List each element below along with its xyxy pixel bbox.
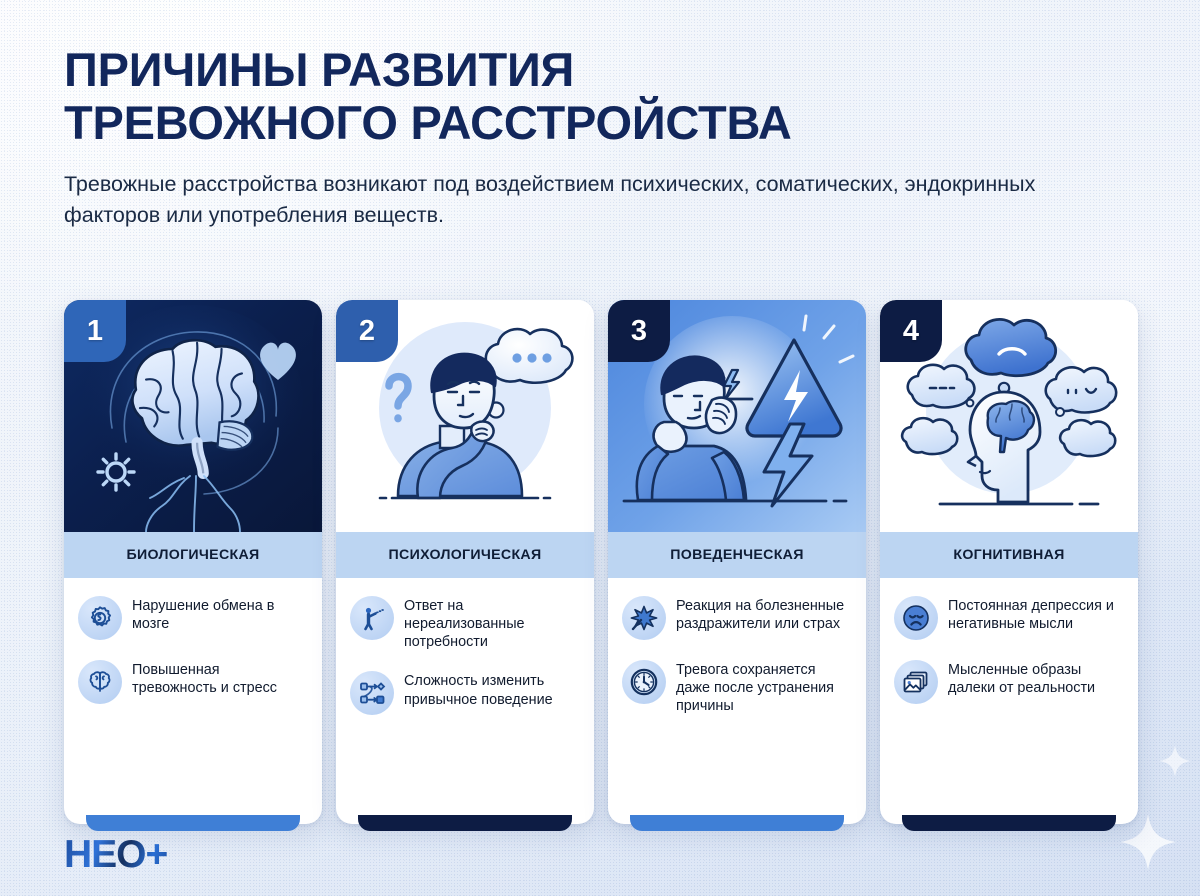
list-item: Тревога сохраняется даже после устранени… <box>622 660 852 715</box>
list-item: Мысленные образы далеки от реальности <box>894 660 1124 704</box>
card-number-badge: 1 <box>64 300 126 362</box>
card-number: 3 <box>631 317 647 346</box>
page-title: ПРИЧИНЫ РАЗВИТИЯ ТРЕВОЖНОГО РАССТРОЙСТВА <box>64 44 1074 149</box>
list-item-text: Реакция на болезненные раздражители или … <box>676 596 852 633</box>
list-item-text: Повышенная тревожность и стресс <box>132 660 308 697</box>
card-items-list: Нарушение обмена в мозге Повышенная трев… <box>64 578 322 824</box>
list-item-text: Ответ на нереализованные потребности <box>404 596 580 651</box>
gear-brain-icon <box>78 596 122 640</box>
cards-row: 1 БИОЛОГИЧЕСКАЯ Нарушение обмена в мозге <box>64 300 1139 824</box>
card-number-badge: 4 <box>880 300 942 362</box>
card-number: 1 <box>87 317 103 346</box>
card-label: КОГНИТИВНАЯ <box>880 532 1138 578</box>
list-item: Реакция на болезненные раздражители или … <box>622 596 852 640</box>
card-items-list: Реакция на болезненные раздражители или … <box>608 578 866 824</box>
list-item: Нарушение обмена в мозге <box>78 596 308 640</box>
card-behavioural[interactable]: 3 ПОВЕДЕНЧЕСКАЯ Реакция на болезненные р… <box>608 300 866 824</box>
list-item: Сложность изменить привычное поведение <box>350 671 580 715</box>
list-item: Повышенная тревожность и стресс <box>78 660 308 704</box>
card-cognitive[interactable]: 4 КОГНИТИВНАЯ Постоянная депрессия и нег <box>880 300 1138 824</box>
list-item-text: Сложность изменить привычное поведение <box>404 671 580 708</box>
card-biological[interactable]: 1 БИОЛОГИЧЕСКАЯ Нарушение обмена в мозге <box>64 300 322 824</box>
card-number: 2 <box>359 317 375 346</box>
card-items-list: Постоянная депрессия и негативные мысли … <box>880 578 1138 824</box>
card-number-badge: 2 <box>336 300 398 362</box>
card-bottom-tab <box>86 815 300 831</box>
sad-face-icon <box>894 596 938 640</box>
card-number: 4 <box>903 317 919 346</box>
card-image-psychological: 2 <box>336 300 594 532</box>
card-number-badge: 3 <box>608 300 670 362</box>
burst-icon <box>622 596 666 640</box>
list-item-text: Нарушение обмена в мозге <box>132 596 308 633</box>
person-reaching-icon <box>350 596 394 640</box>
list-item-text: Тревога сохраняется даже после устранени… <box>676 660 852 715</box>
header: ПРИЧИНЫ РАЗВИТИЯ ТРЕВОЖНОГО РАССТРОЙСТВА… <box>64 44 1074 230</box>
card-psychological[interactable]: 2 ПСИХОЛОГИЧЕСКАЯ Ответ на нереализованн… <box>336 300 594 824</box>
list-item: Ответ на нереализованные потребности <box>350 596 580 651</box>
flowchart-icon <box>350 671 394 715</box>
card-label: ПОВЕДЕНЧЕСКАЯ <box>608 532 866 578</box>
clock-icon <box>622 660 666 704</box>
card-bottom-tab <box>358 815 572 831</box>
list-item-text: Мысленные образы далеки от реальности <box>948 660 1124 697</box>
page-subtitle: Тревожные расстройства возникают под воз… <box>64 169 1044 230</box>
card-image-behavioural: 3 <box>608 300 866 532</box>
list-item: Постоянная депрессия и негативные мысли <box>894 596 1124 640</box>
brain-icon <box>78 660 122 704</box>
page-title-line-1: ПРИЧИНЫ РАЗВИТИЯ <box>64 44 1074 97</box>
card-items-list: Ответ на нереализованные потребности <box>336 578 594 824</box>
card-image-biological: 1 <box>64 300 322 532</box>
card-bottom-tab <box>902 815 1116 831</box>
card-label: ПСИХОЛОГИЧЕСКАЯ <box>336 532 594 578</box>
card-image-cognitive: 4 <box>880 300 1138 532</box>
photos-icon <box>894 660 938 704</box>
card-bottom-tab <box>630 815 844 831</box>
brand-logo: НЕО+ <box>64 835 167 874</box>
card-label: БИОЛОГИЧЕСКАЯ <box>64 532 322 578</box>
list-item-text: Постоянная депрессия и негативные мысли <box>948 596 1124 633</box>
page-title-line-2: ТРЕВОЖНОГО РАССТРОЙСТВА <box>64 97 1074 150</box>
